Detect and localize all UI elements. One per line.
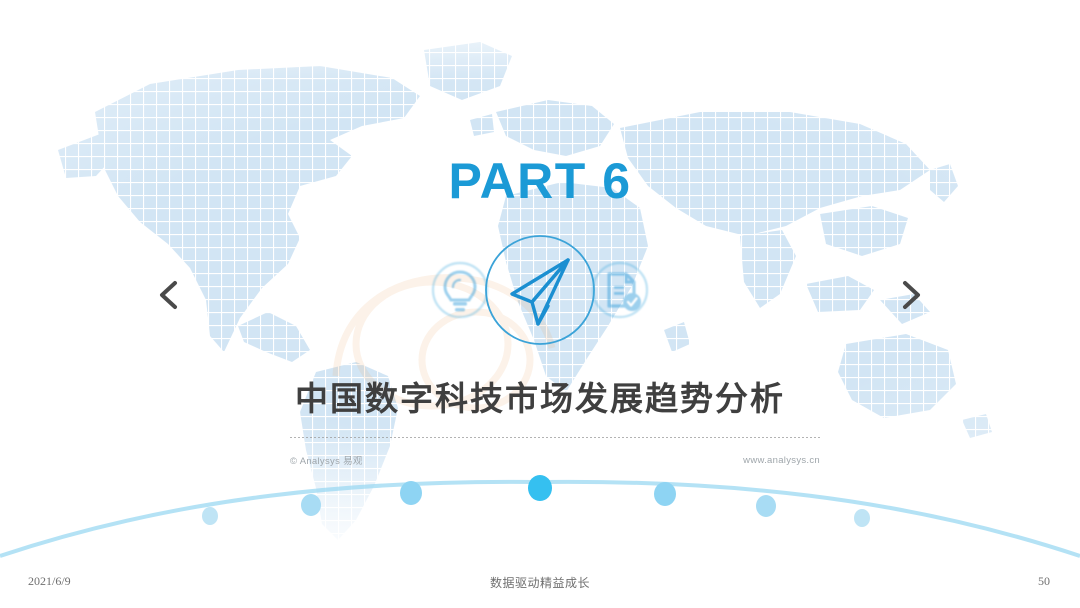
- presentation-slide: PART 6: [0, 0, 1080, 608]
- page-title: 中国数字科技市场发展趋势分析: [0, 372, 1080, 420]
- credits-row: © Analysys 易观 www.analysys.cn: [290, 453, 820, 467]
- website-label: www.analysys.cn: [743, 455, 820, 466]
- footer-tagline: 数据驱动精益成长: [0, 574, 1080, 591]
- icon-cluster: [420, 232, 660, 352]
- arc-dots: [202, 475, 870, 527]
- chevron-left-icon[interactable]: [146, 272, 192, 318]
- divider: [290, 437, 820, 438]
- chevron-right-icon[interactable]: [888, 272, 934, 318]
- decorative-arc: [0, 460, 1080, 560]
- page-number: 50: [1038, 574, 1050, 589]
- copyright-label: © Analysys 易观: [290, 453, 363, 467]
- part-label: PART 6: [0, 152, 1080, 210]
- paper-plane-icon: [482, 232, 598, 348]
- document-check-icon: [588, 258, 652, 322]
- slide-footer: 2021/6/9 数据驱动精益成长 50: [0, 560, 1080, 608]
